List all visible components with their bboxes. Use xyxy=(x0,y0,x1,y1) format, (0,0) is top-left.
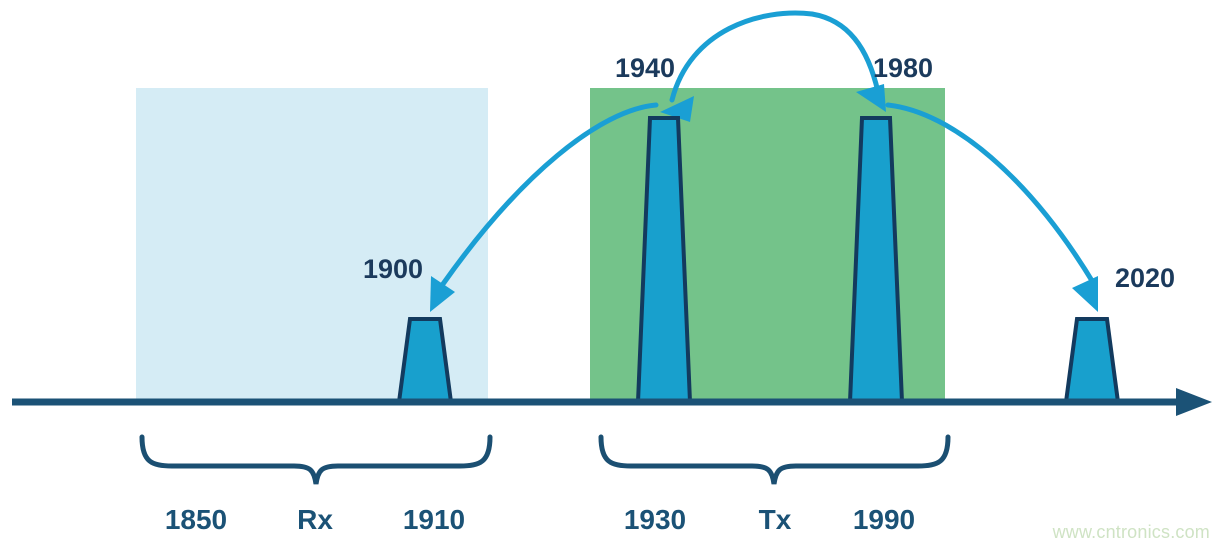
signal-peak-1900 xyxy=(399,319,451,402)
label-tx-name: Tx xyxy=(759,504,792,535)
frequency-spectrum-diagram: 1900 1940 1980 2020 1850 Rx 1910 1930 Tx… xyxy=(0,0,1224,553)
label-tx-end: 1990 xyxy=(853,504,915,535)
label-rx-end: 1910 xyxy=(403,504,465,535)
label-1980: 1980 xyxy=(873,53,933,83)
label-2020: 2020 xyxy=(1115,263,1175,293)
rx-brace xyxy=(142,437,490,484)
label-1900: 1900 xyxy=(363,254,423,284)
label-rx-start: 1850 xyxy=(165,504,227,535)
label-tx-start: 1930 xyxy=(624,504,686,535)
tx-brace xyxy=(601,437,948,484)
diagram-canvas: 1900 1940 1980 2020 1850 Rx 1910 1930 Tx… xyxy=(0,0,1224,553)
watermark-text: www.cntronics.com xyxy=(1053,522,1210,543)
signal-peak-2020 xyxy=(1066,319,1118,402)
arc-1940-to-1980-left-half xyxy=(672,13,812,100)
label-rx-name: Rx xyxy=(297,504,333,535)
arc-1940-to-1980-right-half xyxy=(812,14,878,92)
arc-1980-to-2020-arrowhead xyxy=(1072,276,1098,312)
label-1940: 1940 xyxy=(615,53,675,83)
frequency-axis-arrowhead xyxy=(1176,388,1212,416)
